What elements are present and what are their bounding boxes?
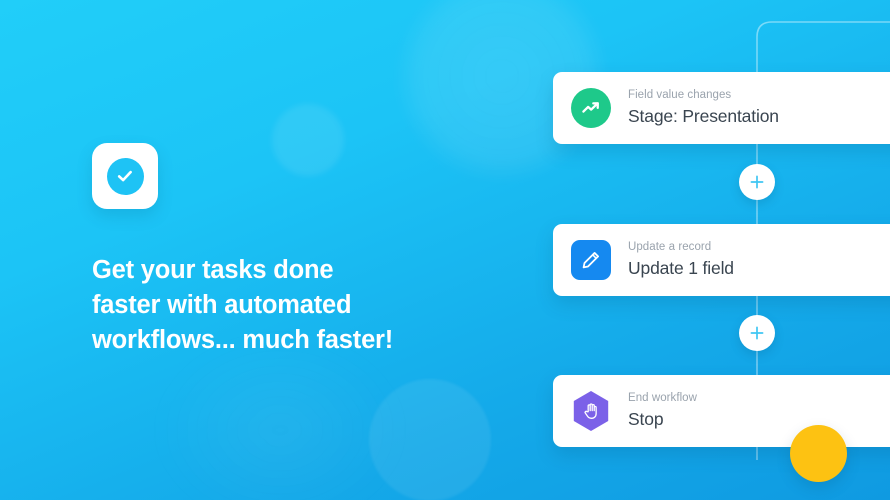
- hero-text-block: Get your tasks done faster with automate…: [92, 143, 482, 358]
- add-step-button-1[interactable]: [739, 164, 775, 200]
- card-title: Stage: Presentation: [628, 103, 779, 128]
- page-title: Get your tasks done faster with automate…: [92, 209, 482, 358]
- card-label: Field value changes: [628, 88, 779, 103]
- hero-banner: Get your tasks done faster with automate…: [0, 0, 890, 500]
- pencil-icon: [571, 240, 611, 280]
- card-text: End workflow Stop: [611, 391, 697, 431]
- check-badge: [92, 143, 158, 209]
- add-step-button-2[interactable]: [739, 315, 775, 351]
- decorative-circle-bottom: [369, 379, 491, 500]
- workflow-card-action[interactable]: Update a record Update 1 field: [553, 224, 890, 296]
- trending-up-icon: [571, 88, 611, 128]
- card-label: Update a record: [628, 240, 734, 255]
- card-text: Update a record Update 1 field: [611, 240, 734, 280]
- card-text: Field value changes Stage: Presentation: [611, 88, 779, 128]
- plus-icon: [748, 324, 766, 342]
- stop-hand-icon: [571, 391, 611, 431]
- card-title: Stop: [628, 406, 697, 431]
- accent-dot: [790, 425, 847, 482]
- check-circle-icon: [107, 158, 144, 195]
- workflow-card-trigger[interactable]: Field value changes Stage: Presentation: [553, 72, 890, 144]
- card-title: Update 1 field: [628, 255, 734, 280]
- plus-icon: [748, 173, 766, 191]
- card-label: End workflow: [628, 391, 697, 406]
